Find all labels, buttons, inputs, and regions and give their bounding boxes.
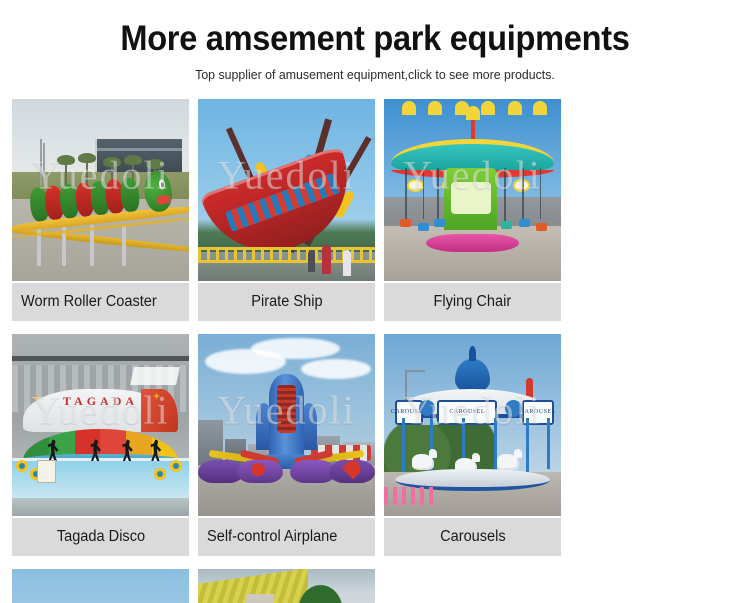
track-support (122, 226, 126, 266)
product-card-worm-roller-coaster[interactable]: Yuedoli Worm Roller Coaster (12, 99, 189, 321)
product-image-tagada-disco[interactable]: TAGADA ✦ ✦ (12, 334, 189, 516)
product-card-carousels[interactable]: CAROUSEL CAROUSEL CAROUSEL (384, 334, 561, 556)
sky (12, 569, 189, 603)
info-board (37, 460, 56, 484)
rocket-tower (269, 374, 304, 461)
product-card-tagada-disco[interactable]: TAGADA ✦ ✦ (12, 334, 189, 556)
scene-flying-chair (384, 99, 561, 281)
roof-beam (12, 356, 189, 361)
product-caption-text: Pirate Ship (251, 293, 322, 311)
swing-seat (536, 223, 547, 231)
star-icon: ✦ (31, 392, 41, 402)
visitor (322, 245, 331, 274)
cloud (251, 338, 340, 360)
worm-eye (158, 179, 165, 190)
scene-carousels: CAROUSEL CAROUSEL CAROUSEL (384, 334, 561, 516)
product-image-flying-chair[interactable]: Yuedoli (384, 99, 561, 281)
track-support (62, 223, 66, 267)
visitor (343, 250, 351, 275)
product-grid: Yuedoli Worm Roller Coaster (6, 99, 744, 603)
swing-seat (434, 219, 445, 227)
star-icon: ✦ (152, 390, 162, 400)
product-caption-text: Flying Chair (434, 293, 512, 311)
scene-coffee-cup (198, 569, 375, 603)
product-caption-bar[interactable]: Worm Roller Coaster (12, 283, 189, 321)
carousel-sign-center: CAROUSEL (437, 400, 497, 425)
product-caption-text: Tagada Disco (56, 528, 144, 546)
carousel-sign-left: CAROUSEL (395, 400, 423, 425)
product-image-worm-roller-coaster[interactable]: Yuedoli (12, 99, 189, 281)
trees (384, 425, 494, 472)
blue-rosette (505, 400, 522, 417)
scene-worm-roller-coaster (12, 99, 189, 281)
product-card-coffee-cup[interactable]: Yuedoli Coffee Cup (198, 569, 375, 603)
product-caption-text: Self-control Airplane (207, 528, 337, 546)
product-image-pirate-ship[interactable]: Yuedoli (198, 99, 375, 281)
carousel-horse (412, 454, 434, 470)
product-image-carousels[interactable]: CAROUSEL CAROUSEL CAROUSEL (384, 334, 561, 516)
page-subtitle: Top supplier of amusement equipment,clic… (19, 67, 732, 83)
product-caption-text: Carousels (440, 528, 506, 546)
tree (294, 580, 347, 603)
swing-seat (519, 219, 530, 227)
boat-seats (224, 173, 340, 232)
product-card-self-control-airplane[interactable]: Yuedoli Self-control Airplane (198, 334, 375, 556)
product-card-pirate-ship[interactable]: Yuedoli Pirate Ship (198, 99, 375, 321)
track-support (90, 225, 94, 267)
walkway (242, 594, 275, 603)
product-grid-page: More amsement park equipments Top suppli… (0, 0, 750, 603)
utility-pole (43, 143, 45, 183)
canopy-medallion (407, 179, 424, 192)
pink-fence (384, 487, 434, 505)
decor-circle (154, 468, 166, 480)
product-card-octopus-ride[interactable]: Yuedoli Octopus Ride (12, 569, 189, 603)
decor-circle (16, 460, 28, 472)
skylight (130, 367, 180, 385)
product-caption-bar[interactable]: Carousels (384, 518, 561, 556)
ride-base (426, 234, 518, 252)
scene-self-control-airplane (198, 334, 375, 516)
scene-octopus-ride (12, 569, 189, 603)
scene-pirate-ship (198, 99, 375, 281)
product-caption-bar[interactable]: Tagada Disco (12, 518, 189, 556)
swing-seat (400, 219, 411, 227)
carousel-horse (497, 454, 519, 470)
product-image-self-control-airplane[interactable]: Yuedoli (198, 334, 375, 516)
center-column (444, 168, 497, 230)
swing-seat (501, 221, 512, 229)
palm-tree (65, 161, 67, 187)
product-caption-bar[interactable]: Flying Chair (384, 283, 561, 321)
product-image-coffee-cup[interactable]: Yuedoli (198, 569, 375, 603)
product-caption-text: Worm Roller Coaster (21, 293, 157, 311)
product-caption-bar[interactable]: Pirate Ship (198, 283, 375, 321)
warehouse-floor (12, 498, 189, 516)
product-card-flying-chair[interactable]: Yuedoli Flying Chair (384, 99, 561, 321)
scene-tagada-disco: TAGADA ✦ ✦ (12, 334, 189, 516)
swing-seat (418, 223, 429, 231)
blue-rosette (419, 400, 435, 416)
product-caption-bar[interactable]: Self-control Airplane (198, 518, 375, 556)
visitor (308, 250, 315, 272)
track-support (37, 226, 41, 266)
carousel-dome (455, 359, 490, 392)
page-title: More amsement park equipments (26, 18, 724, 60)
page-header: More amsement park equipments Top suppli… (0, 0, 750, 83)
product-image-octopus-ride[interactable]: Yuedoli (12, 569, 189, 603)
